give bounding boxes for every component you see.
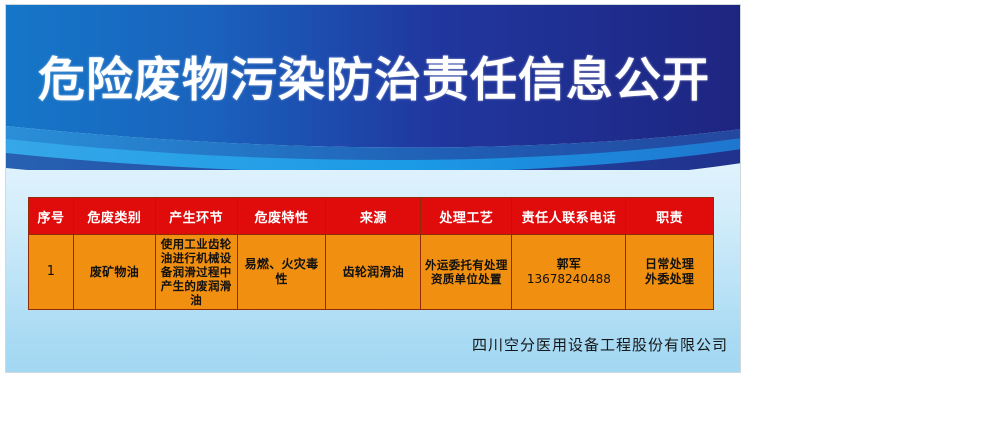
table-body: 1 废矿物油 使用工业齿轮油进行机械设备润滑过程中产生的废润滑油 易燃、火灾毒性…	[29, 235, 714, 310]
cell-duty: 日常处理 外委处理	[626, 235, 714, 310]
table-row: 1 废矿物油 使用工业齿轮油进行机械设备润滑过程中产生的废润滑油 易燃、火灾毒性…	[29, 235, 714, 310]
duty-line-2: 外委处理	[629, 272, 710, 287]
cell-source: 齿轮润滑油	[326, 235, 421, 310]
duty-line-1: 日常处理	[629, 257, 710, 272]
column-header-contact: 责任人联系电话	[512, 198, 626, 235]
column-header-process: 处理工艺	[421, 198, 512, 235]
hazardous-waste-table: 序号 危废类别 产生环节 危废特性 来源 处理工艺 责任人联系电话 职责 1 废…	[28, 197, 714, 310]
cell-process: 外运委托有处理资质单位处置	[421, 235, 512, 310]
page-title: 危险废物污染防治责任信息公开	[6, 57, 741, 104]
table-header-row: 序号 危废类别 产生环节 危废特性 来源 处理工艺 责任人联系电话 职责	[29, 198, 714, 235]
cell-category: 废矿物油	[74, 235, 156, 310]
contact-name: 郭军	[515, 257, 622, 272]
contact-phone: 13678240488	[515, 272, 622, 287]
cell-stage: 使用工业齿轮油进行机械设备润滑过程中产生的废润滑油	[155, 235, 237, 310]
column-header-category: 危废类别	[74, 198, 156, 235]
table-header: 序号 危废类别 产生环节 危废特性 来源 处理工艺 责任人联系电话 职责	[29, 198, 714, 235]
company-name: 四川空分医用设备工程股份有限公司	[6, 334, 728, 355]
column-header-no: 序号	[29, 198, 74, 235]
column-header-stage: 产生环节	[155, 198, 237, 235]
column-header-duty: 职责	[626, 198, 714, 235]
cell-property: 易燃、火灾毒性	[237, 235, 326, 310]
column-header-source: 来源	[326, 198, 421, 235]
cell-no: 1	[29, 235, 74, 310]
column-header-property: 危废特性	[237, 198, 326, 235]
banner: 危险废物污染防治责任信息公开	[6, 5, 741, 170]
poster-board: 危险废物污染防治责任信息公开 序号 危废类别 产生环节 危废特性 来源 处理工艺…	[5, 4, 741, 373]
cell-contact: 郭军 13678240488	[512, 235, 626, 310]
